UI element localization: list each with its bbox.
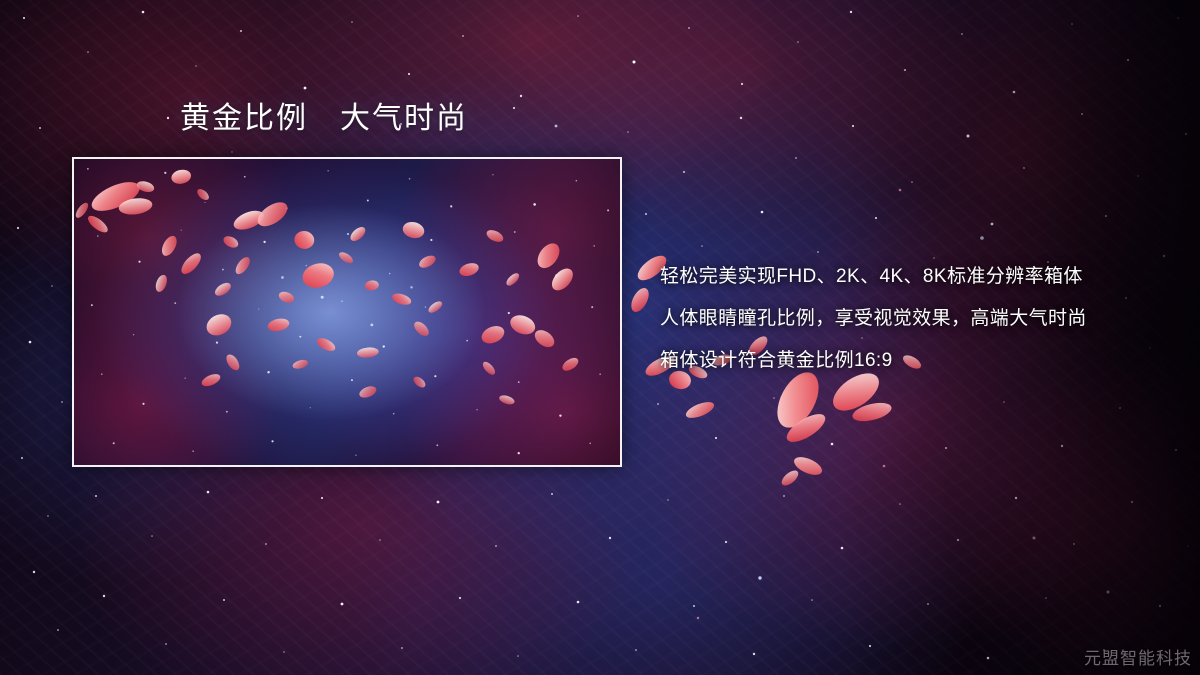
- body-copy-block: 轻松完美实现FHD、2K、4K、8K标准分辨率箱体 人体眼睛瞳孔比例，享受视觉效…: [660, 256, 1180, 382]
- slide-title: 黄金比例 大气时尚: [180, 101, 468, 137]
- watermark-logo-text: 元盟智能科技: [1084, 644, 1192, 669]
- framed-image-starfield: [74, 159, 620, 465]
- body-line-3: 箱体设计符合黄金比例16:9: [660, 340, 1180, 382]
- framed-image-nebula: [74, 159, 620, 465]
- slide-canvas: 黄金比例 大气时尚: [0, 0, 1200, 675]
- body-line-2: 人体眼睛瞳孔比例，享受视觉效果，高端大气时尚: [660, 298, 1180, 340]
- framed-image: [72, 157, 622, 467]
- body-line-1: 轻松完美实现FHD、2K、4K、8K标准分辨率箱体: [660, 256, 1180, 298]
